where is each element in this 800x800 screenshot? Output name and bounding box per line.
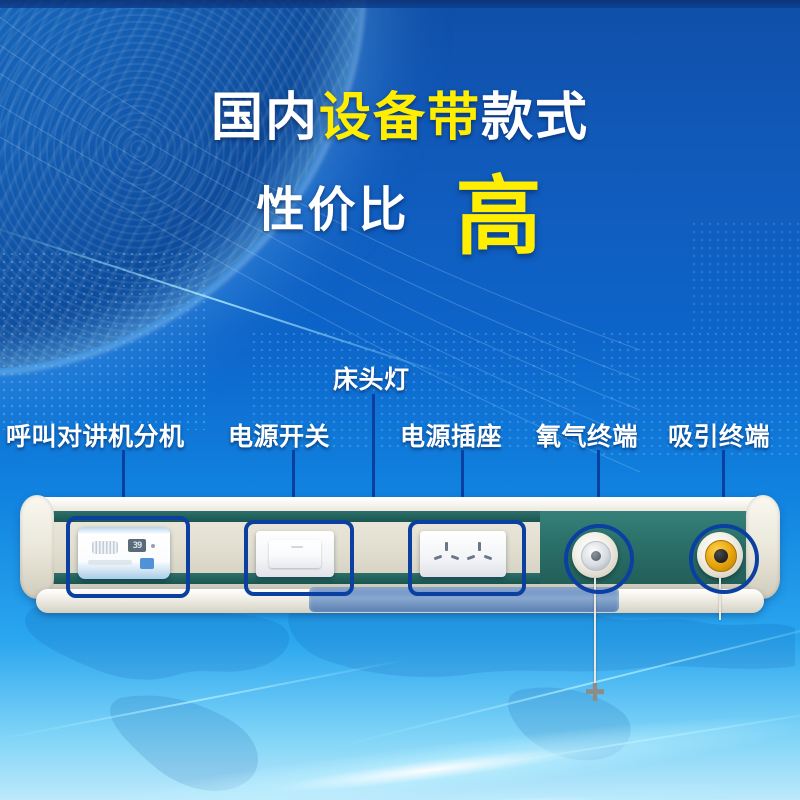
subheadline: 性价比高: [0, 168, 800, 254]
highlight-box-power-socket: [408, 520, 526, 596]
callout-label-oxygen: 氧气终端: [536, 417, 638, 453]
highlight-ring-suction: [689, 524, 759, 594]
callout-label-suction: 吸引终端: [668, 417, 770, 453]
top-edge-band: [0, 0, 800, 8]
poster-canvas: 国内设备带款式 性价比高 呼叫对讲机分机 电源开关 床头灯 电源插座 氧气终端 …: [0, 0, 800, 800]
headline: 国内设备带款式: [0, 92, 800, 144]
headline-highlight: 设备带: [319, 92, 481, 144]
callout-label-bed-lamp: 床头灯: [333, 360, 410, 396]
headline-part-3: 款式: [481, 92, 589, 144]
highlight-box-intercom: [66, 516, 190, 598]
highlight-ring-oxygen: [564, 524, 634, 594]
subheadline-emphasis: 高: [456, 169, 544, 265]
subheadline-text: 性价比: [256, 184, 409, 237]
callout-label-power-switch: 电源开关: [228, 417, 330, 453]
halftone-dots-left: [0, 250, 210, 430]
callout-label-nurse-call: 呼叫对讲机分机: [6, 417, 185, 453]
callout-label-power-socket: 电源插座: [400, 417, 502, 453]
panel-top-highlight: [22, 497, 778, 511]
headline-part-1: 国内: [211, 92, 319, 144]
highlight-box-power-switch: [244, 520, 354, 596]
pull-cord-oxygen[interactable]: [594, 578, 596, 686]
panel-end-cap-left: [20, 495, 54, 599]
